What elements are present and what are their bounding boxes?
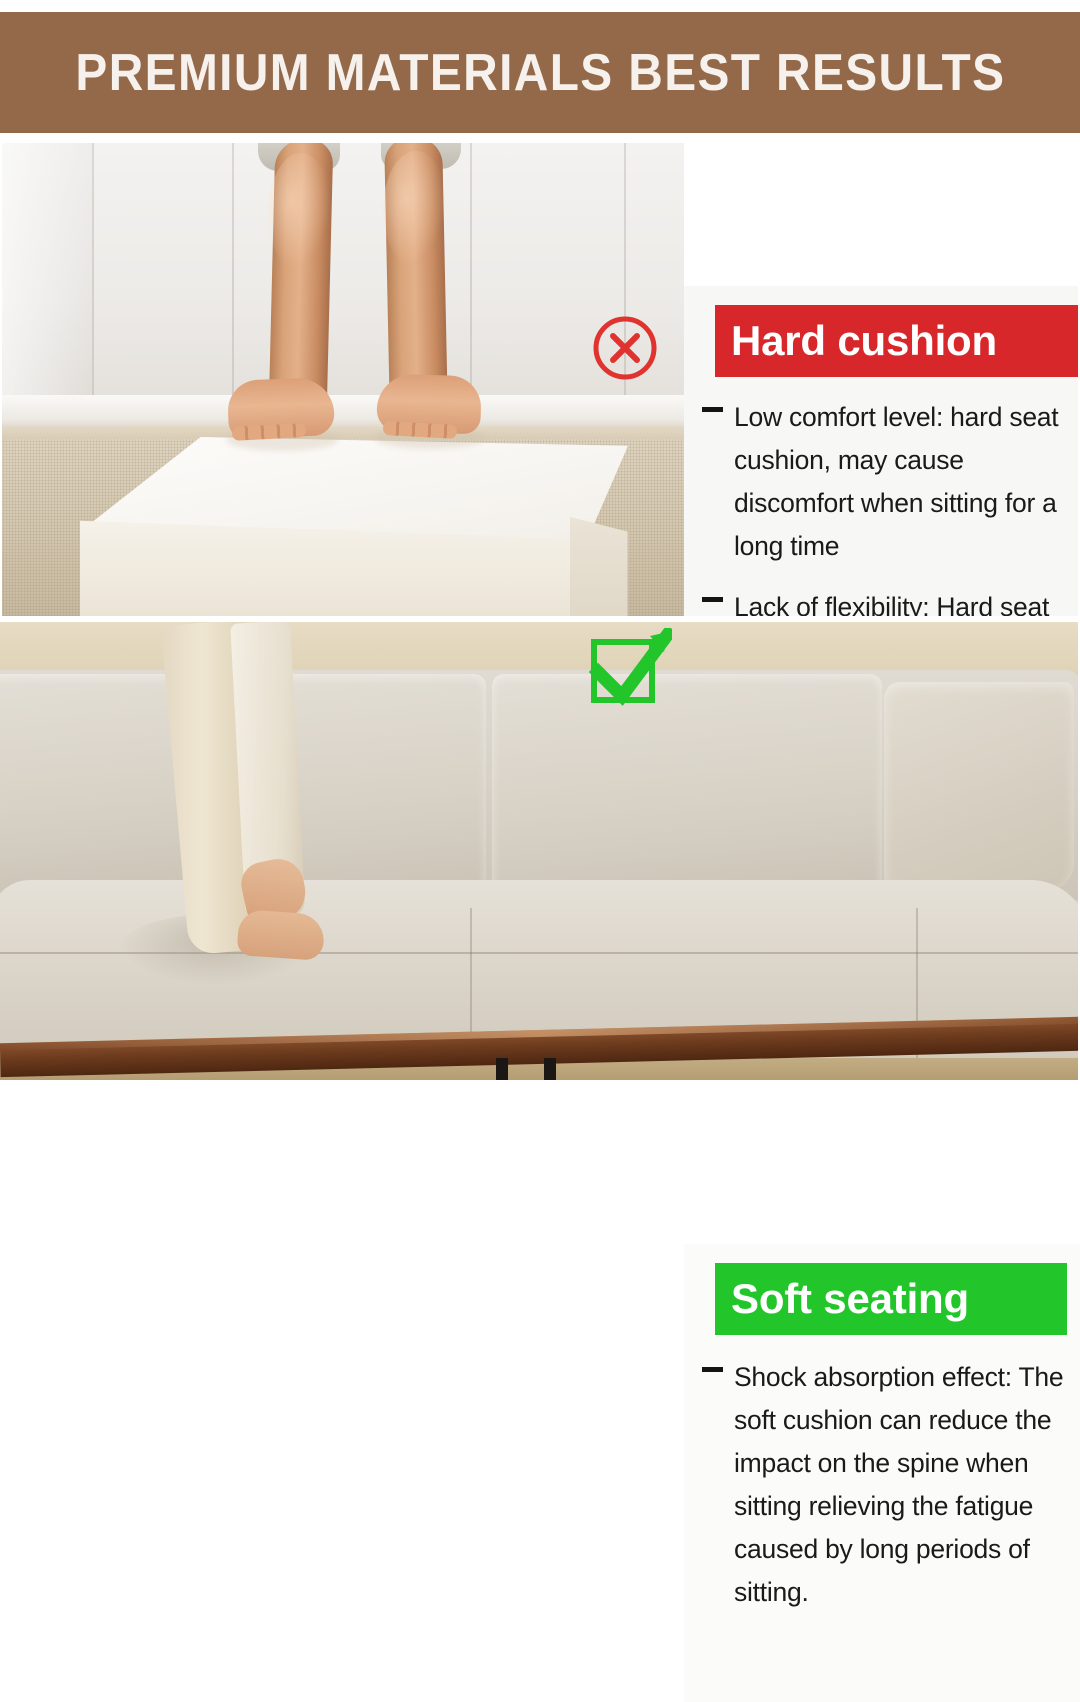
cabinet-panel	[0, 143, 92, 395]
soft-seating-tag: Soft seating	[715, 1263, 1067, 1335]
check-box-icon	[588, 628, 672, 708]
soft-seating-photo	[0, 622, 1080, 1080]
header-banner: PREMIUM MATERIALS BEST RESULTS	[0, 12, 1080, 133]
sofa-leg	[544, 1058, 556, 1080]
left-edge	[0, 143, 2, 616]
infographic-page: PREMIUM MATERIALS BEST RESULTS	[0, 0, 1080, 1080]
hard-cushion-tag: Hard cushion	[715, 305, 1080, 377]
list-item: Shock absorption effect: The soft cushio…	[702, 1356, 1076, 1614]
bullet-text: Shock absorption effect: The soft cushio…	[734, 1356, 1076, 1614]
back-cushion	[0, 674, 190, 896]
hard-cushion-photo	[0, 143, 684, 616]
comparison-row-hard-cushion: Hard cushion Low comfort level: hard sea…	[0, 143, 1080, 616]
dash-icon	[702, 396, 734, 568]
back-cushion	[492, 674, 882, 896]
soft-seating-text-panel: Soft seating Shock absorption effect: Th…	[684, 1244, 1080, 1702]
cabinet-seam	[92, 143, 94, 395]
calf-highlight	[383, 151, 449, 269]
cabinet-seam	[232, 143, 234, 395]
dash-icon	[702, 1356, 734, 1614]
sofa-leg	[496, 1058, 508, 1080]
soft-seating-bullet-list: Shock absorption effect: The soft cushio…	[702, 1356, 1076, 1632]
cabinet-wall	[0, 143, 684, 401]
baseboard	[0, 395, 684, 429]
bullet-text: Low comfort level: hard seat cushion, ma…	[734, 396, 1076, 568]
soft-seating-tag-label: Soft seating	[731, 1278, 969, 1320]
cabinet-seam	[470, 143, 472, 395]
comparison-row-soft-seating: Soft seating Shock absorption effect: Th…	[0, 622, 1080, 1080]
list-item: Low comfort level: hard seat cushion, ma…	[702, 396, 1076, 568]
calf-highlight	[268, 153, 334, 273]
x-circle-icon	[592, 315, 658, 381]
throw-pillow	[884, 682, 1074, 892]
hard-cushion-tag-label: Hard cushion	[731, 320, 997, 362]
page-title: PREMIUM MATERIALS BEST RESULTS	[75, 43, 1005, 103]
